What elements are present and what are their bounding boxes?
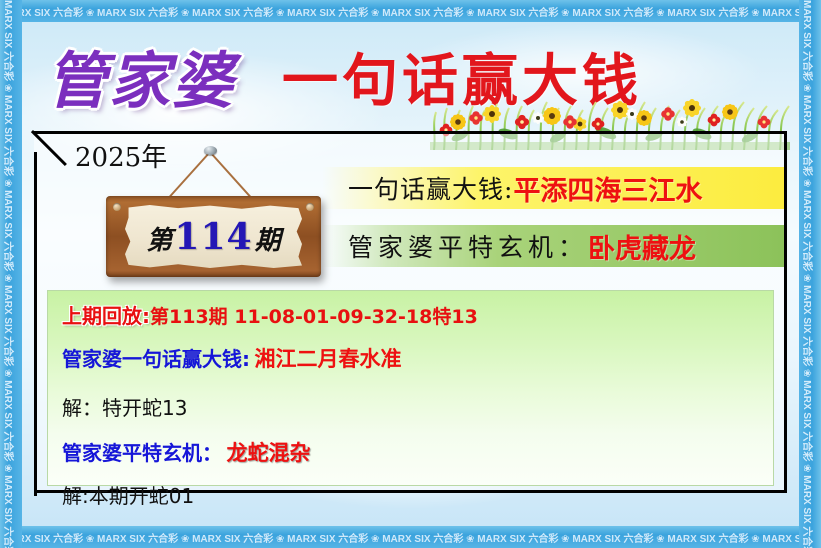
previous-draw-label: 上期回放:: [62, 304, 150, 328]
frame-chamfer-corner: [34, 131, 68, 165]
frame-top-line: [34, 131, 787, 134]
banner-green-label: 管家婆平特玄机：: [348, 228, 588, 264]
banner-pingte-prediction: 管家婆平特玄机：卧虎藏龙: [322, 225, 784, 267]
border-right-text: MARX SIX 六合彩 ❀ MARX SIX 六合彩 ❀ MARX SIX 六…: [801, 0, 816, 548]
issue-prefix: 第: [146, 226, 172, 256]
border-right: MARX SIX 六合彩 ❀ MARX SIX 六合彩 ❀ MARX SIX 六…: [799, 0, 821, 548]
previous-slogan-value: 湘江二月春水准: [254, 347, 401, 371]
border-left: MARX SIX 六合彩 ❀ MARX SIX 六合彩 ❀ MARX SIX 六…: [0, 0, 22, 548]
slogan-explanation-text: 解：特开蛇13: [62, 396, 187, 420]
frame-left-line: [34, 152, 37, 496]
border-bottom: MARX SIX 六合彩 ❀ MARX SIX 六合彩 ❀ MARX SIX 六…: [0, 526, 821, 548]
previous-slogan-label: 管家婆一句话赢大钱:: [62, 347, 250, 371]
row-previous-draw: 上期回放:第113期 11-08-01-09-32-18特13: [62, 306, 773, 327]
previous-pingte-value: 龙蛇混杂: [226, 441, 310, 465]
banner-yellow-value: 平添四海三江水: [513, 169, 702, 208]
pingte-explanation-text: 解:本期开蛇01: [62, 484, 194, 508]
page-root: 管家婆 一句话赢大钱: [0, 0, 821, 548]
previous-draw-value: 第113期 11-08-01-09-32-18特13: [150, 306, 478, 328]
previous-pingte-label: 管家婆平特玄机：: [62, 441, 222, 465]
banner-slogan-prediction: 一句话赢大钱:平添四海三江水: [322, 167, 784, 209]
banner-green-value: 卧虎藏龙: [588, 227, 696, 266]
row-pingte-explanation: 解:本期开蛇01: [62, 486, 773, 507]
row-previous-pingte: 管家婆平特玄机： 龙蛇混杂: [62, 443, 773, 464]
issue-paper: 第114期: [125, 205, 302, 268]
border-top-text: MARX SIX 六合彩 ❀ MARX SIX 六合彩 ❀ MARX SIX 六…: [0, 4, 821, 19]
border-top: MARX SIX 六合彩 ❀ MARX SIX 六合彩 ❀ MARX SIX 六…: [0, 0, 821, 22]
issue-number: 114: [172, 216, 254, 258]
issue-suffix: 期: [255, 226, 281, 256]
year-label: 2025年: [75, 137, 167, 174]
issue-wooden-sign: 第114期: [106, 196, 321, 277]
banner-yellow-label: 一句话赢大钱:: [348, 170, 513, 206]
row-slogan-explanation: 解：特开蛇13: [62, 398, 773, 419]
site-brand-title: 管家婆: [46, 31, 235, 120]
issue-text: 第114期: [146, 219, 280, 255]
results-content-box: 上期回放:第113期 11-08-01-09-32-18特13 管家婆一句话赢大…: [47, 290, 774, 486]
border-bottom-text: MARX SIX 六合彩 ❀ MARX SIX 六合彩 ❀ MARX SIX 六…: [0, 530, 821, 545]
row-previous-slogan: 管家婆一句话赢大钱: 湘江二月春水准: [62, 349, 773, 370]
border-left-text: MARX SIX 六合彩 ❀ MARX SIX 六合彩 ❀ MARX SIX 六…: [2, 0, 17, 548]
sign-nail-icon: [204, 146, 217, 155]
